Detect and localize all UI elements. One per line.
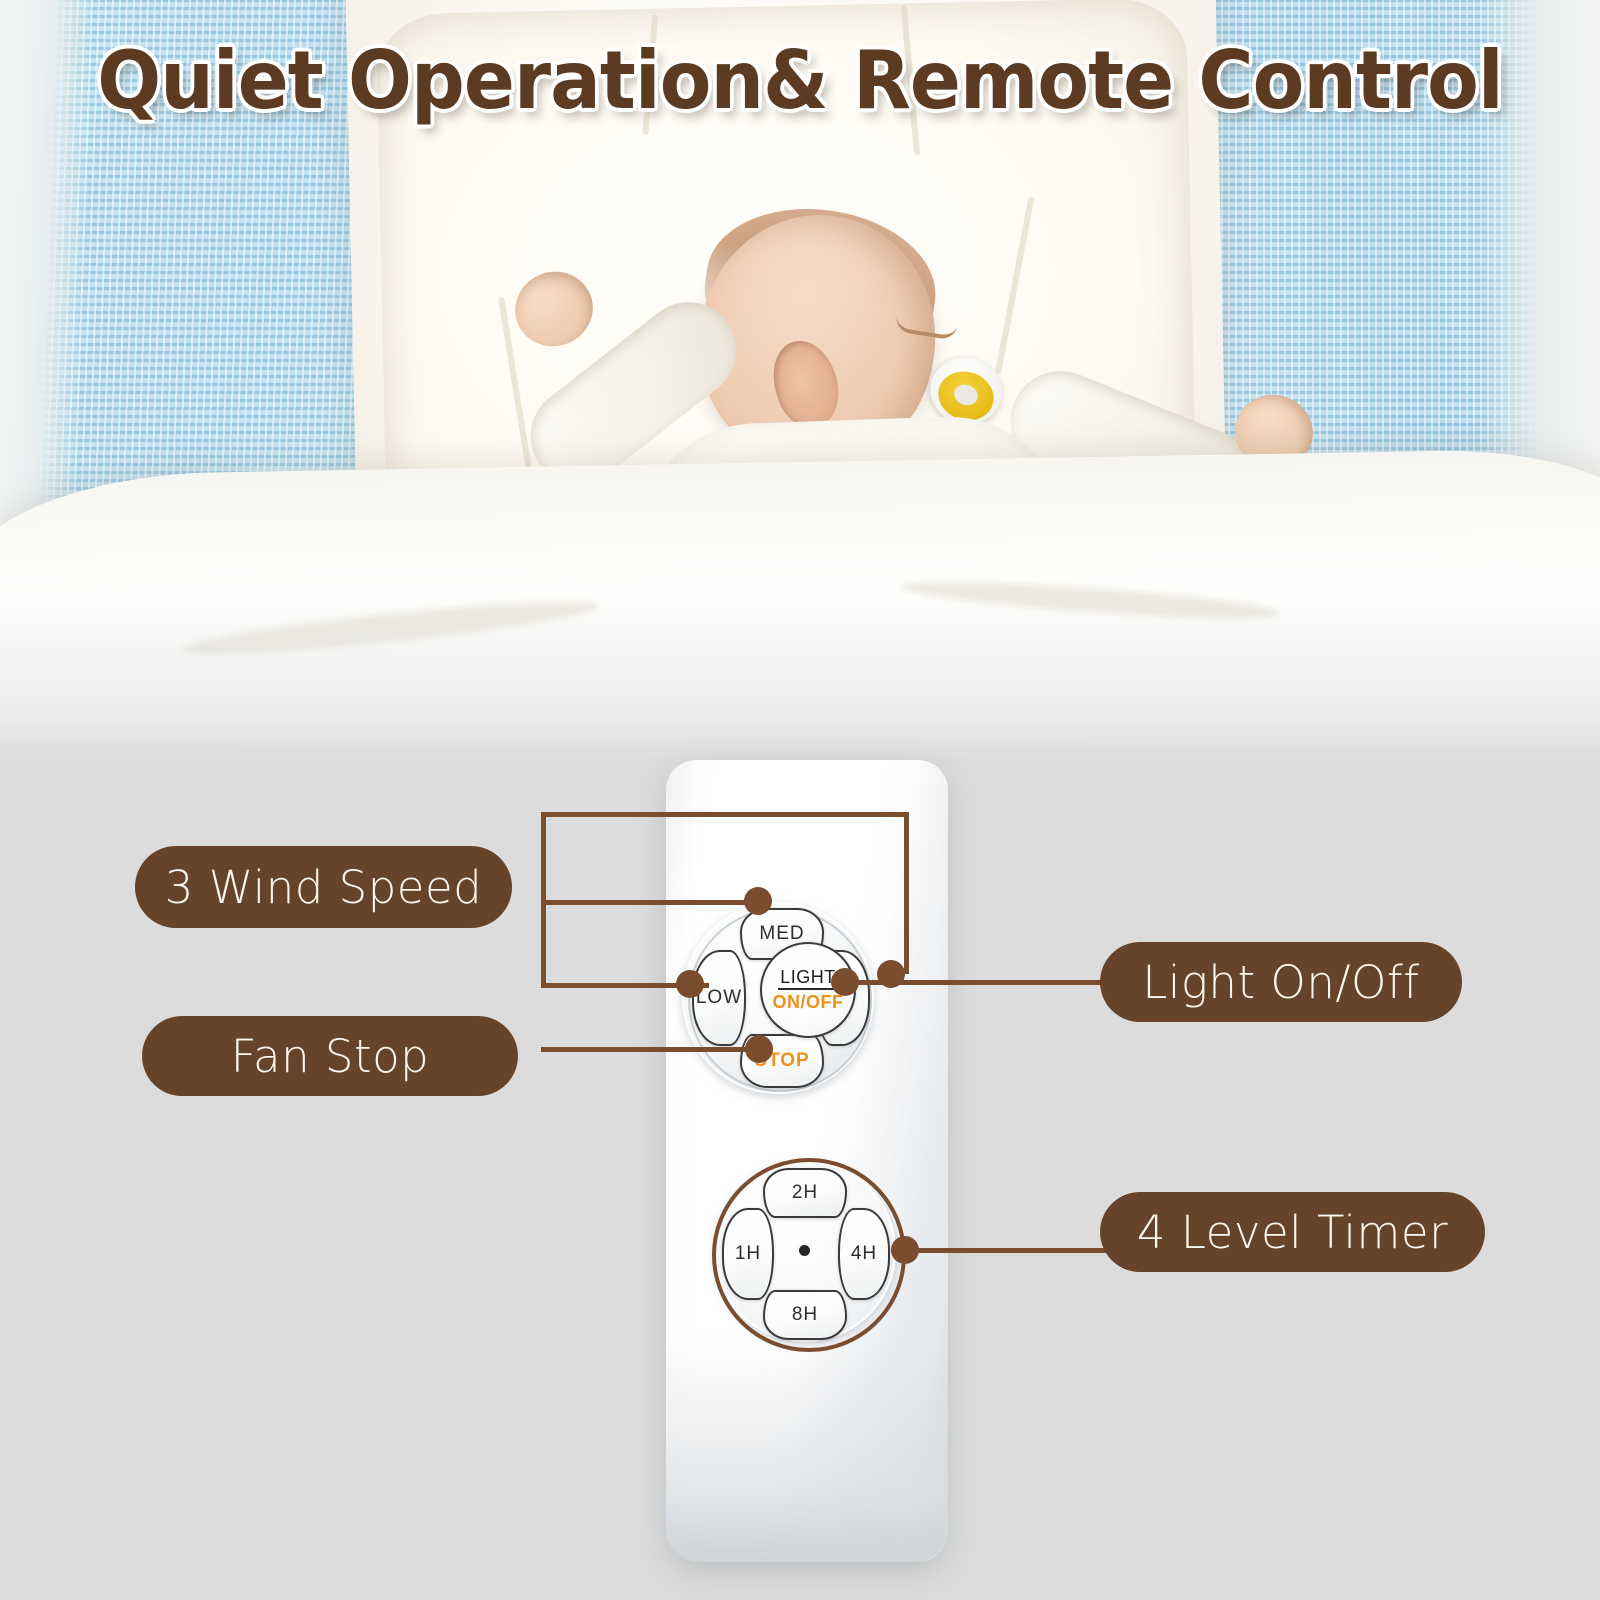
button-low[interactable]: LOW — [692, 950, 746, 1046]
connector-dot-timer — [891, 1236, 919, 1264]
connector-wind-to-hi-down — [904, 812, 909, 974]
callout-4-level-timer[interactable]: 4 Level Timer — [1100, 1192, 1485, 1272]
page-title: Quiet Operation& Remote Control — [48, 38, 1552, 124]
callout-light-on-off[interactable]: Light On/Off — [1100, 942, 1462, 1022]
infographic-canvas: Quiet Operation& Remote Control MED LOW … — [0, 0, 1600, 1600]
callout-fan-stop[interactable]: Fan Stop — [142, 1016, 518, 1096]
callout-3-wind-speed[interactable]: 3 Wind Speed — [135, 846, 512, 928]
button-timer-4h[interactable]: 4H — [838, 1208, 890, 1300]
light-label-top: LIGHT — [778, 968, 838, 990]
connector-dot-light — [831, 968, 859, 996]
connector-dot-stop — [745, 1035, 773, 1063]
light-label-bottom: ON/OFF — [773, 993, 844, 1012]
connector-dot-low — [676, 970, 704, 998]
connector-fan-stop — [541, 1047, 769, 1052]
connector-wind-to-hi-top — [541, 812, 909, 817]
button-timer-1h[interactable]: 1H — [722, 1208, 774, 1300]
button-timer-8h[interactable]: 8H — [763, 1290, 847, 1340]
connector-wind-to-med — [541, 900, 761, 905]
remote-bottom-shading — [666, 1332, 948, 1562]
connector-dot-med — [744, 887, 772, 915]
button-timer-2h[interactable]: 2H — [763, 1168, 847, 1218]
connector-light-onoff — [840, 980, 1108, 985]
connector-timer — [900, 1248, 1112, 1253]
timer-center-dot-icon — [799, 1245, 810, 1256]
